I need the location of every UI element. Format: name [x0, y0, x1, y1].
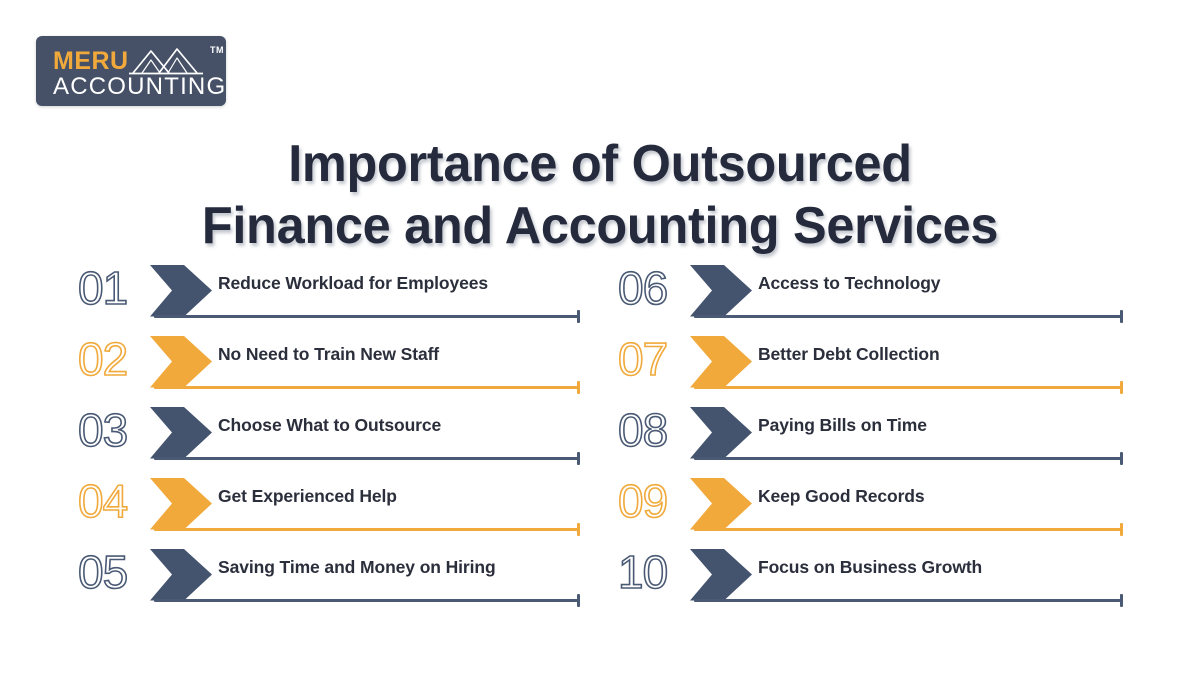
item-rule-end-cap — [577, 523, 580, 536]
item-rule — [154, 457, 579, 460]
page-title-line-1: Importance of Outsourced — [18, 133, 1182, 195]
item-number: 07 — [618, 335, 694, 383]
item-rule — [694, 315, 1122, 318]
item-number: 09 — [618, 477, 694, 525]
item-number: 08 — [618, 406, 694, 454]
item-rule-end-cap — [577, 452, 580, 465]
list-item[interactable]: 06 Access to Technology — [618, 258, 1163, 329]
item-rule — [154, 386, 579, 389]
item-number: 03 — [78, 406, 154, 454]
item-rule-end-cap — [1120, 523, 1123, 536]
infographic-canvas: MERU TM ACCOUNTING Importance of Outsour… — [0, 0, 1200, 674]
item-rule-end-cap — [1120, 381, 1123, 394]
item-number: 02 — [78, 335, 154, 383]
item-rule-end-cap — [577, 594, 580, 607]
item-rule — [154, 528, 579, 531]
item-rule — [694, 528, 1122, 531]
list-item[interactable]: 04 Get Experienced Help — [78, 471, 623, 542]
item-label: Saving Time and Money on Hiring — [218, 555, 496, 579]
item-rule — [154, 599, 579, 602]
item-rule-end-cap — [1120, 310, 1123, 323]
list-item[interactable]: 03 Choose What to Outsource — [78, 400, 623, 471]
list-item[interactable]: 09 Keep Good Records — [618, 471, 1163, 542]
item-number: 05 — [78, 548, 154, 596]
list-column-right: 06 Access to Technology 07 Better Debt C… — [618, 258, 1163, 613]
list-item[interactable]: 10 Focus on Business Growth — [618, 542, 1163, 613]
logo-brand-primary: MERU — [53, 47, 129, 75]
item-label: Choose What to Outsource — [218, 413, 441, 437]
item-number: 01 — [78, 264, 154, 312]
logo-top-row: MERU TM — [53, 46, 218, 76]
item-rule — [694, 599, 1122, 602]
item-label: Paying Bills on Time — [758, 413, 927, 437]
item-label: Focus on Business Growth — [758, 555, 982, 579]
list-item[interactable]: 05 Saving Time and Money on Hiring — [78, 542, 623, 613]
company-logo[interactable]: MERU TM ACCOUNTING — [36, 36, 226, 106]
item-number: 10 — [618, 548, 694, 596]
list-item[interactable]: 01 Reduce Workload for Employees — [78, 258, 623, 329]
trademark-symbol: TM — [210, 45, 224, 55]
item-rule-end-cap — [1120, 452, 1123, 465]
item-label: No Need to Train New Staff — [218, 342, 439, 366]
item-label: Better Debt Collection — [758, 342, 940, 366]
page-title-line-2: Finance and Accounting Services — [18, 195, 1182, 257]
item-label: Get Experienced Help — [218, 484, 397, 508]
page-title: Importance of Outsourced Finance and Acc… — [0, 133, 1200, 257]
item-rule-end-cap — [577, 310, 580, 323]
item-rule — [154, 315, 579, 318]
item-label: Access to Technology — [758, 271, 940, 295]
item-number: 06 — [618, 264, 694, 312]
list-item[interactable]: 07 Better Debt Collection — [618, 329, 1163, 400]
item-rule — [694, 386, 1122, 389]
item-label: Keep Good Records — [758, 484, 925, 508]
item-rule-end-cap — [1120, 594, 1123, 607]
item-label: Reduce Workload for Employees — [218, 271, 488, 295]
logo-brand-secondary: ACCOUNTING — [53, 74, 226, 100]
list-column-left: 01 Reduce Workload for Employees 02 No N… — [78, 258, 623, 613]
item-number: 04 — [78, 477, 154, 525]
item-rule — [694, 457, 1122, 460]
list-item[interactable]: 02 No Need to Train New Staff — [78, 329, 623, 400]
item-rule-end-cap — [577, 381, 580, 394]
list-item[interactable]: 08 Paying Bills on Time — [618, 400, 1163, 471]
